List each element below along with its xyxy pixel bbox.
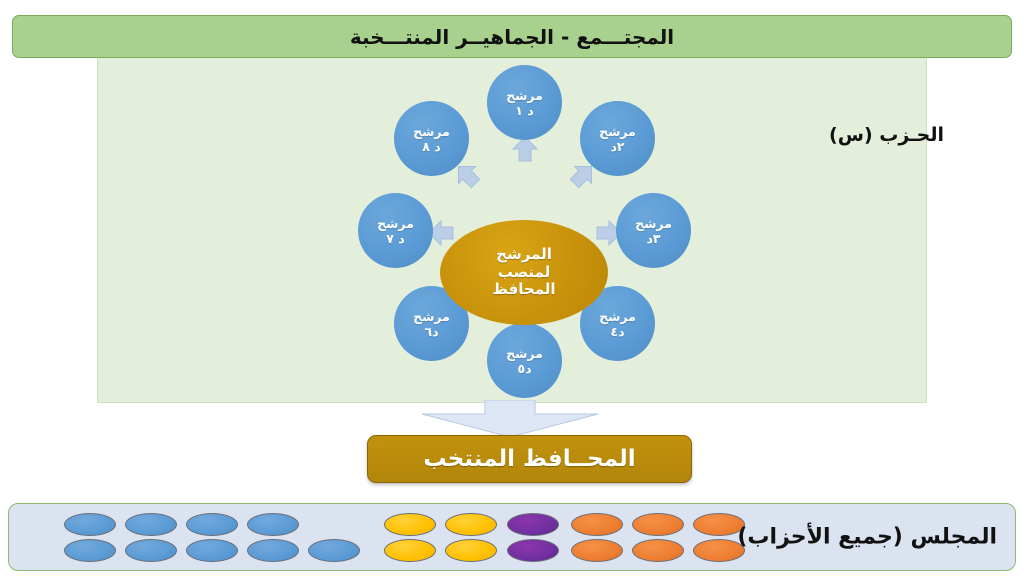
elected-governor-label: المحــافظ المنتخب: [423, 446, 635, 472]
council-seat: [571, 539, 623, 562]
seat-row: [571, 539, 745, 562]
council-seat: [507, 539, 559, 562]
seat-row: [64, 539, 360, 562]
council-seat: [445, 539, 497, 562]
seat-row: [571, 513, 745, 536]
seat-group-yellow: [384, 513, 497, 562]
council-seat: [507, 513, 559, 536]
council-seat: [247, 513, 299, 536]
candidate-node-3[interactable]: مرشح ٣د: [616, 193, 691, 268]
candidate-label-line2: د ٧: [386, 231, 404, 246]
candidate-node-1[interactable]: مرشح د ١: [487, 65, 562, 140]
council-seat: [445, 513, 497, 536]
seat-group-orange: [571, 513, 745, 562]
candidate-node-5[interactable]: مرشح د٥: [487, 323, 562, 398]
hub-line-2: لمنصب: [498, 264, 550, 282]
council-seat: [247, 539, 299, 562]
council-seat: [308, 539, 360, 562]
seat-row: [64, 513, 360, 536]
diagram-canvas: المجتـــمع - الجماهيــر المنتـــخبة الحـ…: [0, 0, 1024, 581]
hub-line-3: المحافظ: [492, 281, 555, 299]
seat-row: [384, 539, 497, 562]
council-seat: [384, 539, 436, 562]
candidate-label-line1: مرشح: [413, 309, 450, 324]
seat-row: [507, 539, 559, 562]
candidate-label-line2: د٦: [424, 324, 438, 339]
candidate-label-line2: ٣د: [646, 231, 660, 246]
seat-group-purple: [507, 513, 559, 562]
candidate-label-line1: مرشح: [377, 216, 414, 231]
governor-candidate-hub[interactable]: المرشح لمنصب المحافظ: [440, 220, 608, 325]
seat-row: [384, 513, 497, 536]
council-seat: [632, 513, 684, 536]
candidate-label-line1: مرشح: [506, 346, 543, 361]
candidate-node-2[interactable]: مرشح ٢د: [580, 101, 655, 176]
candidate-label-line1: مرشح: [599, 309, 636, 324]
party-label: الحـزب (س): [829, 124, 944, 146]
society-title: المجتـــمع - الجماهيــر المنتـــخبة: [350, 25, 674, 49]
candidate-node-7[interactable]: مرشح د ٧: [358, 193, 433, 268]
candidate-label-line1: مرشح: [506, 88, 543, 103]
flow-down-arrow-icon: [420, 400, 600, 438]
seat-row: [507, 513, 559, 536]
council-label: المجلس (جميع الأحزاب): [737, 525, 997, 550]
seat-group-blue: [64, 513, 360, 562]
candidate-label-line1: مرشح: [413, 124, 450, 139]
elected-governor-box: المحــافظ المنتخب: [367, 435, 692, 483]
council-seat: [186, 513, 238, 536]
council-seat: [186, 539, 238, 562]
candidate-label-line2: د٤: [610, 324, 624, 339]
council-seat: [571, 513, 623, 536]
candidate-label-line2: د٥: [517, 361, 531, 376]
candidate-label-line1: مرشح: [635, 216, 672, 231]
council-seat: [384, 513, 436, 536]
candidate-label-line1: مرشح: [599, 124, 636, 139]
candidate-node-8[interactable]: مرشح د ٨: [394, 101, 469, 176]
council-seat: [632, 539, 684, 562]
society-banner: المجتـــمع - الجماهيــر المنتـــخبة: [12, 15, 1012, 58]
council-seat: [125, 513, 177, 536]
candidate-label-line2: د ٨: [422, 139, 440, 154]
candidate-cycle: مرشح د ١ مرشح ٢د مرشح ٣د مرشح د٤ مرشح د٥…: [330, 58, 720, 403]
council-seat: [125, 539, 177, 562]
council-seat: [64, 539, 116, 562]
council-bar: المجلس (جميع الأحزاب): [8, 503, 1016, 571]
candidate-label-line2: د ١: [515, 103, 533, 118]
council-seat: [64, 513, 116, 536]
candidate-label-line2: ٢د: [610, 139, 624, 154]
hub-line-1: المرشح: [496, 246, 552, 264]
